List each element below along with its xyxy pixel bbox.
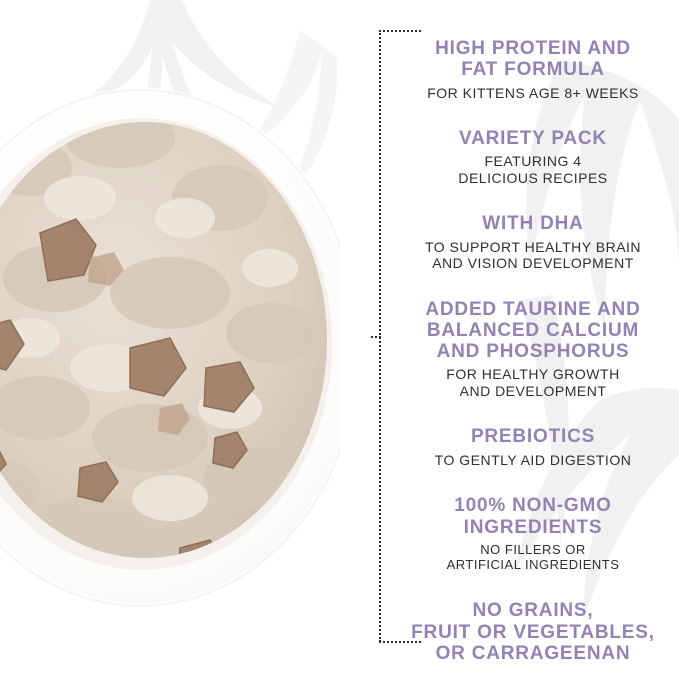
- feature-heading: VARIETY PACK: [400, 128, 666, 149]
- feature-heading: ADDED TAURINE AND BALANCED CALCIUM AND P…: [400, 299, 666, 363]
- feature-item-prebiotics: PREBIOTICS TO GENTLY AID DIGESTION: [400, 426, 666, 468]
- feature-heading: HIGH PROTEIN AND FAT FORMULA: [400, 38, 666, 81]
- feature-heading: WITH DHA: [400, 213, 666, 234]
- feature-item-no-grains: NO GRAINS, FRUIT OR VEGETABLES, OR CARRA…: [400, 600, 666, 664]
- feature-subtext: TO GENTLY AID DIGESTION: [400, 452, 666, 469]
- feature-item-with-dha: WITH DHA TO SUPPORT HEALTHY BRAIN AND VI…: [400, 213, 666, 271]
- product-feature-graphic: HIGH PROTEIN AND FAT FORMULA FOR KITTENS…: [0, 0, 679, 679]
- product-photo-bowl: [0, 78, 340, 638]
- dotted-divider-top-cap: [379, 30, 421, 33]
- feature-item-high-protein: HIGH PROTEIN AND FAT FORMULA FOR KITTENS…: [400, 38, 666, 101]
- feature-item-variety-pack: VARIETY PACK FEATURING 4 DELICIOUS RECIP…: [400, 128, 666, 186]
- feature-subtext: FOR HEALTHY GROWTH AND DEVELOPMENT: [400, 366, 666, 399]
- feature-heading: NO GRAINS, FRUIT OR VEGETABLES, OR CARRA…: [400, 600, 666, 664]
- feature-item-taurine-calcium-phosphorus: ADDED TAURINE AND BALANCED CALCIUM AND P…: [400, 299, 666, 400]
- feature-subtext: NO FILLERS OR ARTIFICIAL INGREDIENTS: [400, 542, 666, 573]
- feature-heading: 100% NON-GMO INGREDIENTS: [400, 495, 666, 538]
- feature-item-non-gmo: 100% NON-GMO INGREDIENTS NO FILLERS OR A…: [400, 495, 666, 572]
- feature-heading: PREBIOTICS: [400, 426, 666, 447]
- feature-subtext: FEATURING 4 DELICIOUS RECIPES: [400, 153, 666, 186]
- dotted-divider-tick: [371, 336, 381, 339]
- feature-subtext: TO SUPPORT HEALTHY BRAIN AND VISION DEVE…: [400, 239, 666, 272]
- feature-subtext: FOR KITTENS AGE 8+ WEEKS: [400, 85, 666, 102]
- feature-list: HIGH PROTEIN AND FAT FORMULA FOR KITTENS…: [400, 36, 666, 644]
